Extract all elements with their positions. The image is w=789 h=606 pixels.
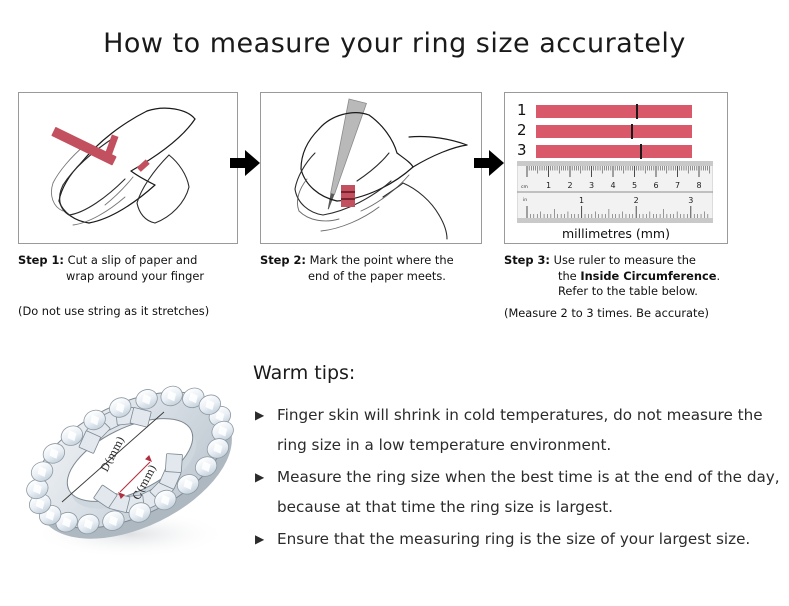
step-1-panel — [18, 92, 238, 244]
ruler-cm-unit: cm — [521, 185, 528, 190]
step-3-caption: Step 3: Use ruler to measure the the Ins… — [504, 253, 728, 300]
measured-strip-row-2: 2 — [517, 125, 697, 138]
strip-mark — [636, 104, 638, 119]
ruler-cm-tick-label: 6 — [653, 181, 658, 190]
warm-tip-item: ▶ Finger skin will shrink in cold temper… — [253, 400, 781, 460]
step-3-line2-post: . — [716, 269, 720, 283]
strip-bar — [536, 105, 692, 118]
warm-tip-item: ▶ Measure the ring size when the best ti… — [253, 462, 781, 522]
step-2-illustration — [261, 93, 481, 243]
triangle-bullet-icon: ▶ — [255, 524, 264, 554]
step-1-label: Step 1: — [18, 253, 64, 267]
page-title: How to measure your ring size accurately — [0, 28, 789, 59]
ruler-unit-label: millimetres (mm) — [505, 226, 727, 241]
measured-strip-row-1: 1 — [517, 105, 697, 118]
strip-number-2: 2 — [517, 121, 527, 139]
measured-strip-row-3: 3 — [517, 145, 697, 158]
warm-tip-text: Finger skin will shrink in cold temperat… — [277, 406, 763, 454]
step-3-panel: 1 2 3 — [504, 92, 728, 244]
strip-number-3: 3 — [517, 141, 527, 159]
step-1-note: (Do not use string as it stretches) — [18, 304, 238, 318]
paper-slip-wrapped — [105, 134, 150, 171]
strip-mark — [631, 124, 633, 139]
triangle-bullet-icon: ▶ — [255, 462, 264, 492]
step-1-line2: wrap around your finger — [18, 269, 238, 285]
infographic-page: How to measure your ring size accurately — [0, 0, 789, 606]
arrow-head — [489, 150, 504, 176]
warm-tips-title: Warm tips: — [253, 362, 781, 384]
step-3-column: 1 2 3 — [504, 92, 728, 320]
ruler-cm-tick-label: 1 — [546, 181, 551, 190]
ring-diagram: D(mm) C(mm) — [14, 350, 246, 580]
step-2-line2: end of the paper meets. — [260, 269, 482, 285]
ruler-inch-tick-label: 1 — [579, 196, 584, 205]
ruler-cm-tick-label: 3 — [589, 181, 594, 190]
step-1-caption: Step 1: Cut a slip of paper and wrap aro… — [18, 253, 238, 284]
step-3-line2-pre: the — [558, 269, 580, 283]
inside-circumference-emphasis: Inside Circumference — [580, 269, 716, 283]
triangle-bullet-icon: ▶ — [255, 400, 264, 430]
ruler-inch-tick-label: 2 — [634, 196, 639, 205]
ring-illustration — [14, 350, 246, 580]
step-3-label: Step 3: — [504, 253, 550, 267]
step-1-illustration — [19, 93, 237, 243]
step-2-panel — [260, 92, 482, 244]
arrow-head — [245, 150, 260, 176]
step-2-label: Step 2: — [260, 253, 306, 267]
steps-row: Step 1: Cut a slip of paper and wrap aro… — [0, 92, 789, 332]
warm-tips-section: Warm tips: ▶ Finger skin will shrink in … — [253, 362, 781, 556]
ruler-cm-tick-label: 4 — [610, 181, 615, 190]
strip-bar — [536, 125, 692, 138]
strip-bar — [536, 145, 692, 158]
warm-tip-text: Ensure that the measuring ring is the si… — [277, 530, 750, 548]
warm-tip-item: ▶ Ensure that the measuring ring is the … — [253, 524, 781, 554]
ruler: 12345678 cm 123 in — [517, 161, 713, 223]
ruler-inch-tick-label: 3 — [688, 196, 693, 205]
step-2-caption: Step 2: Mark the point where the end of … — [260, 253, 482, 284]
ruler-cm-tick-label: 8 — [696, 181, 701, 190]
ruler-cm-tick-label: 2 — [567, 181, 572, 190]
strip-mark — [640, 144, 642, 159]
warm-tip-text: Measure the ring size when the best time… — [277, 468, 780, 516]
arrow-step2-to-step3 — [474, 150, 504, 176]
arrow-step1-to-step2 — [230, 150, 260, 176]
ruler-cm-tick-label: 7 — [675, 181, 680, 190]
strip-number-1: 1 — [517, 101, 527, 119]
step-2-line1: Mark the point where the — [310, 253, 454, 267]
step-1-column: Step 1: Cut a slip of paper and wrap aro… — [18, 92, 238, 318]
ruler-cm-tick-label: 5 — [632, 181, 637, 190]
step-1-line1: Cut a slip of paper and — [68, 253, 198, 267]
step-3-line2: the Inside Circumference. — [504, 269, 728, 285]
step-3-note: (Measure 2 to 3 times. Be accurate) — [504, 306, 728, 320]
ruler-inch-unit: in — [523, 197, 527, 203]
paper-slip-marked — [341, 185, 355, 207]
step-3-line3: Refer to the table below. — [504, 284, 728, 300]
step-3-line1: Use ruler to measure the — [554, 253, 696, 267]
step-2-column: Step 2: Mark the point where the end of … — [260, 92, 482, 304]
